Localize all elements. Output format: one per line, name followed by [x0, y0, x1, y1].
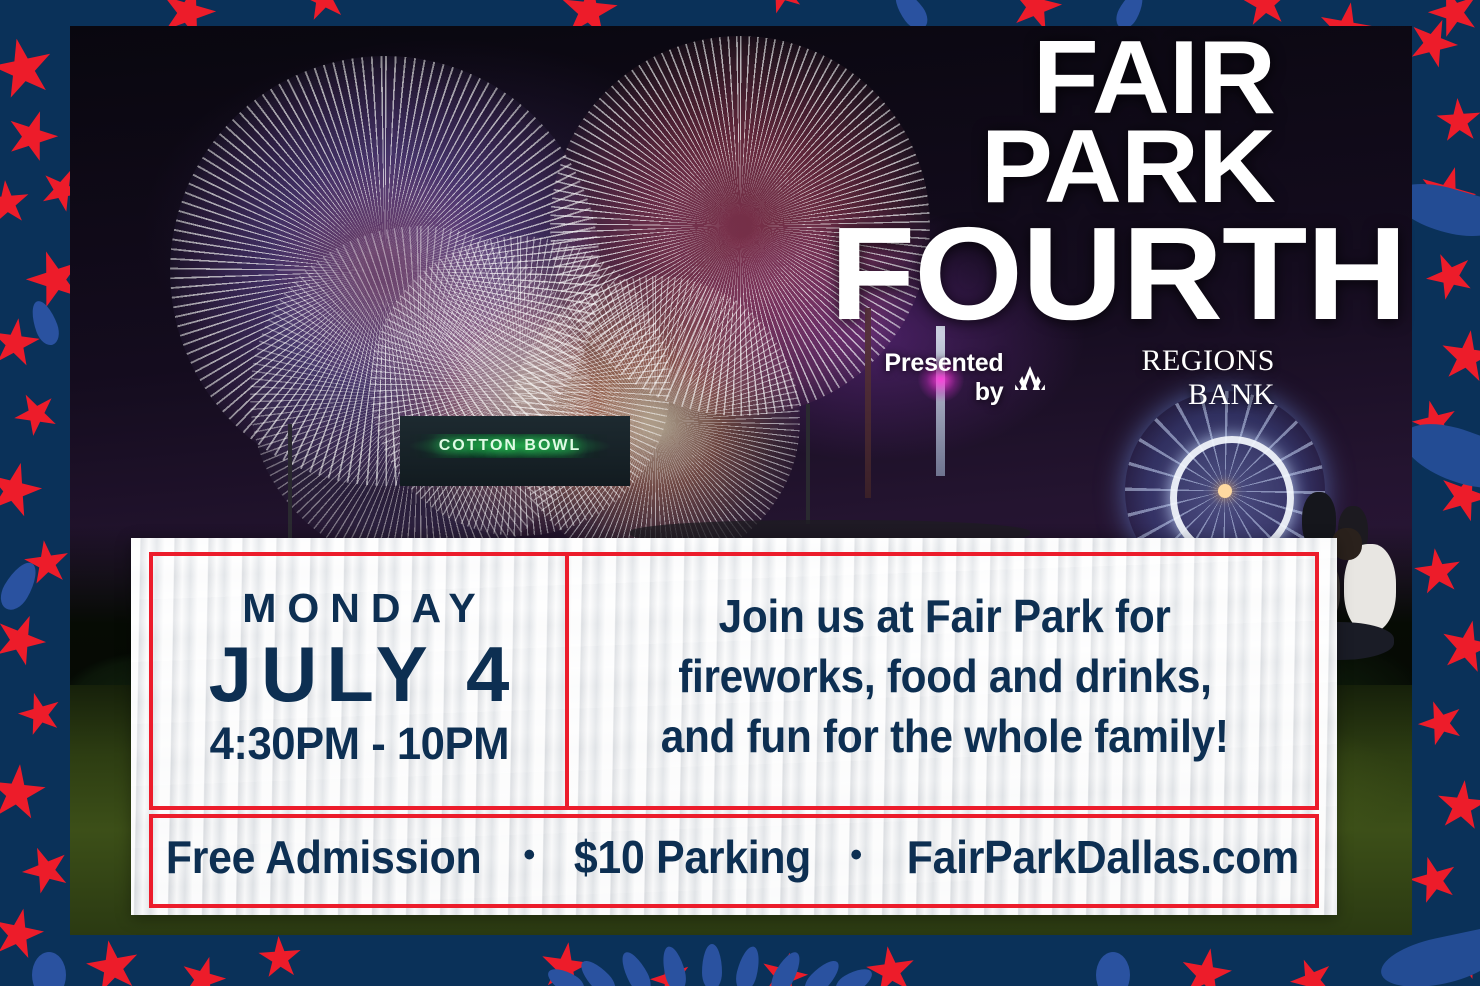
decorative-star — [1176, 944, 1236, 986]
decorative-star — [175, 951, 232, 986]
bullet-separator: • — [523, 838, 535, 876]
firework-burst — [250, 226, 590, 566]
decorative-star — [0, 103, 65, 169]
decorative-star — [1404, 850, 1463, 909]
decorative-firework-drop — [766, 948, 805, 986]
decorative-firework-drop — [832, 963, 877, 986]
regions-pyramid-icon — [1013, 365, 1047, 391]
decorative-firework-drop — [27, 298, 63, 349]
decorative-star — [21, 537, 73, 589]
event-weekday: MONDAY — [231, 588, 486, 629]
decorative-star — [1418, 244, 1480, 307]
website-link[interactable]: FairParkDallas.com — [907, 834, 1299, 880]
description-line-1: Join us at Fair Park for — [719, 587, 1171, 647]
event-time: 4:30PM - 10PM — [209, 721, 508, 766]
decorative-star — [754, 0, 810, 20]
decorative-firework-drop — [32, 952, 66, 986]
bottom-info-bar: Free Admission • $10 Parking • FairParkD… — [153, 818, 1315, 896]
decorative-star — [0, 456, 48, 524]
decorative-star — [1407, 395, 1463, 451]
presented-by-label: Presented by — [855, 349, 1004, 407]
decorative-firework-drop — [659, 944, 690, 986]
decorative-star — [863, 943, 919, 986]
poster-title-block: FAIR PARK FOURTH Presented by REGIONS BA… — [855, 34, 1275, 412]
bullet-separator: • — [850, 838, 862, 876]
decorative-firework-drop — [1096, 952, 1130, 986]
decorative-star — [1435, 615, 1480, 679]
ferris-wheel-hub — [1218, 484, 1232, 498]
decorative-star — [0, 903, 49, 965]
decorative-star — [1411, 159, 1480, 231]
decorative-star — [537, 939, 593, 986]
decorative-firework-drop — [576, 955, 621, 986]
presented-by-row: Presented by REGIONS BANK — [855, 344, 1275, 412]
decorative-star — [0, 761, 49, 825]
description-line-2: fireworks, food and drinks, — [678, 647, 1211, 707]
light-pole — [288, 424, 292, 544]
decorative-firework-drop — [800, 955, 845, 986]
light-pole — [806, 404, 810, 524]
decorative-firework-drop — [733, 944, 764, 986]
cotton-bowl-sign: COTTON BOWL — [410, 434, 610, 458]
decorative-star — [0, 315, 43, 371]
parking-info: $10 Parking — [574, 834, 811, 880]
decorative-firework-drop — [616, 948, 655, 986]
date-column: MONDAY JULY 4 4:30PM - 10PM — [153, 556, 565, 798]
decorative-star — [0, 178, 32, 228]
decorative-star — [0, 32, 60, 106]
description-column: Join us at Fair Park for fireworks, food… — [575, 556, 1315, 798]
decorative-star — [1411, 545, 1465, 599]
decorative-star — [296, 0, 352, 26]
title-line-2: FOURTH — [830, 217, 1275, 331]
decorative-firework-drop — [544, 963, 589, 986]
decorative-firework-drop — [0, 557, 43, 615]
decorative-star — [6, 384, 66, 444]
decorative-star — [82, 936, 145, 986]
decorative-firework-drop — [702, 944, 722, 986]
decorative-star — [1283, 951, 1340, 986]
decorative-star — [1433, 923, 1480, 986]
decorative-star — [1412, 694, 1471, 753]
title-line-1: FAIR PARK — [838, 34, 1275, 213]
panel-vertical-divider — [565, 552, 569, 810]
decorative-star — [1421, 0, 1480, 45]
decorative-star — [1433, 777, 1480, 834]
decorative-star — [1431, 463, 1480, 530]
decorative-star — [645, 953, 698, 986]
sponsor-name: REGIONS BANK — [1056, 344, 1276, 412]
decorative-comet — [1377, 926, 1480, 986]
event-info-panel: MONDAY JULY 4 4:30PM - 10PM Join us at F… — [131, 538, 1337, 915]
decorative-star — [13, 687, 67, 741]
decorative-star — [0, 606, 54, 674]
decorative-star — [1434, 96, 1480, 145]
fair-park-fourth-poster: COTTON BOWL FAIR PARK FOURTH Presented b… — [0, 0, 1480, 986]
decorative-star — [257, 935, 304, 982]
event-date: JULY 4 — [200, 635, 519, 715]
admission-info: Free Admission — [166, 834, 481, 880]
decorative-star — [15, 839, 77, 901]
decorative-star — [755, 947, 813, 986]
decorative-star — [1437, 327, 1480, 388]
description-line-3: and fun for the whole family! — [661, 707, 1229, 767]
